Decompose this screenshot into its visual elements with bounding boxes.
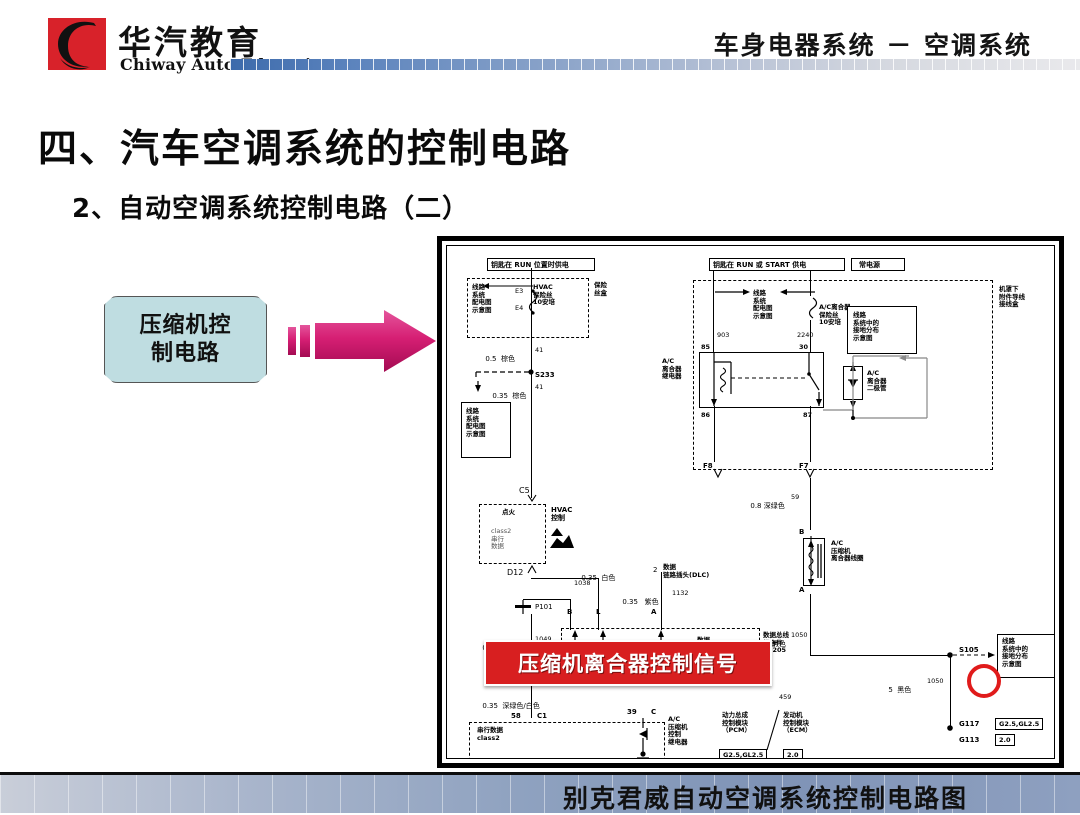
wire-num-w10: 1050 <box>927 678 944 686</box>
power-source-right-label: 钥匙在 RUN 或 START 供电 <box>713 261 806 269</box>
wire-left-main <box>531 268 532 498</box>
wire-num-w3: 1038 <box>574 580 591 588</box>
wire-1050-v <box>810 594 811 656</box>
page-header: 华汽教育 Chiway Auto Education 车身电器系统 － 空调系统 <box>0 0 1080 92</box>
ground-dist-label-2: 线路 系统中的 接地分布 示意图 <box>1002 638 1028 669</box>
pin-39-highlight-circle <box>967 664 1001 698</box>
wire-code-903: 903 <box>717 332 729 340</box>
pin-58: 58 <box>511 712 521 720</box>
power-battery-label: 常电源 <box>859 261 880 269</box>
clutch-coil-label: A/C 压缩机 离合器线圈 <box>831 540 864 563</box>
dist-diagram-label-2: 线路 系统 配电图 示意图 <box>466 408 486 439</box>
wire-label-w7: 0.8 深绿色 <box>737 494 785 519</box>
compressor-control-callout: 压缩机控 制电路 <box>104 296 267 383</box>
connector-d12-symbol <box>527 564 539 576</box>
page-title: 四、汽车空调系统的控制电路 <box>38 118 571 174</box>
compressor-clutch-signal-banner: 压缩机离合器控制信号 <box>484 640 772 686</box>
f8-f7-connector-symbols <box>711 468 821 482</box>
ac-relay-driver-symbol <box>623 718 663 759</box>
fusebox-left-symbols <box>465 280 590 340</box>
ac-clutch-fuse-symbol <box>805 296 821 324</box>
hvac-ignition-label: 点火 <box>502 509 515 517</box>
fusebox-label: 保险 丝盒 <box>594 282 607 297</box>
splice-terminal-b: B <box>567 608 572 616</box>
hvac-class2-label: class2 串行 数据 <box>491 528 511 551</box>
dlc-label: 数据 链路插头(DLC) <box>663 564 709 579</box>
wire-num-w8: 1050 <box>791 632 808 640</box>
callout-line-1: 压缩机控 <box>139 312 231 340</box>
splice-terminal-a: A <box>651 608 656 616</box>
connector-p101: P101 <box>535 603 553 611</box>
clutch-coil-terminal-a: A <box>799 586 804 594</box>
page-footer: 别克君威自动空调系统控制电路图 <box>0 772 1080 813</box>
wire-num-w6: 459 <box>779 694 791 702</box>
right-arrow-icon <box>288 310 436 372</box>
ground-dist-label-1: 线路 系统中的 接地分布 示意图 <box>853 312 879 343</box>
diode-feedback-wiring <box>799 354 999 458</box>
s105-dashed-arrow <box>951 650 999 662</box>
ground-g113: G113 <box>959 736 979 744</box>
splice-terminal-l: L <box>596 608 600 616</box>
wire-ground-v <box>950 655 951 729</box>
wire-dlc-v <box>661 572 662 630</box>
banner-text: 压缩机离合器控制信号 <box>518 648 738 678</box>
wire-903-v <box>713 270 714 352</box>
ground-g117: G117 <box>959 720 979 728</box>
pin-39: 39 <box>627 708 637 716</box>
pcm-tag-1: G2.5,GL2.5 <box>719 749 767 759</box>
hvac-mountain-icon <box>549 524 575 550</box>
ground-dot-g117 <box>945 724 957 736</box>
connector-d12: D12 <box>507 568 523 577</box>
wire-label-w10: 5 黑色 <box>875 678 911 703</box>
wire-2240-bot-v <box>810 320 811 352</box>
ac-relay-label: A/C 离合器 继电器 <box>662 358 682 381</box>
callout-line-2: 制电路 <box>151 340 220 368</box>
wire-label-w6: 0.35 深绿色/白色 <box>469 694 540 719</box>
ac-clutch-fuse-label: A/C离合器 保险丝 10安培 <box>819 304 851 327</box>
serial-class2-label: 串行数据 class2 <box>477 727 503 742</box>
callout-text: 压缩机控 制电路 <box>104 296 267 383</box>
ecm-tag: 2.0 <box>783 749 803 759</box>
wire-2240-top-v <box>810 270 811 296</box>
wire-ground-h <box>810 655 951 656</box>
pin-c: C <box>651 708 656 716</box>
wire-num-w4: 1132 <box>672 590 689 598</box>
wire-f8-v <box>714 406 715 462</box>
wire-59-v <box>810 478 811 530</box>
wire-num-w7: 59 <box>791 494 799 502</box>
hood-junction-label: 机罩下 附件导线 接线盒 <box>999 286 1025 309</box>
power-source-left-label: 钥匙在 RUN 位置时供电 <box>491 261 569 269</box>
dlc-pin-2: 2 <box>653 566 657 574</box>
logo-brush-c-icon <box>50 14 112 74</box>
relay-terminal-86: 86 <box>701 412 710 420</box>
arrow-down-s233 <box>473 380 485 394</box>
pin-c1: C1 <box>537 712 547 720</box>
wire-num-w2: 41 <box>535 384 543 392</box>
wire-f7-v <box>810 406 811 462</box>
pcm-label: 动力总成 控制模块 （PCM） <box>722 712 751 735</box>
g113-tag: 2.0 <box>995 734 1015 746</box>
splice-s233: S233 <box>535 371 555 379</box>
hvac-control-label: HVAC 控制 <box>551 506 572 523</box>
pcm-ecm-divider <box>765 708 785 754</box>
wire-green-white-v <box>531 686 532 718</box>
wire-num-w1: 41 <box>535 347 543 355</box>
ecm-label: 发动机 控制模块 （ECM） <box>783 712 812 735</box>
g117-tag: G2.5,GL2.5 <box>995 718 1043 730</box>
header-title: 车身电器系统 － 空调系统 <box>714 26 1032 62</box>
page-subtitle: 2、自动空调系统控制电路（二） <box>72 188 469 225</box>
wire-p101-h <box>523 599 571 600</box>
clutch-coil-symbol <box>801 534 829 592</box>
ac-comp-relay-label: A/C 压缩机 控制 继电器 <box>668 716 688 747</box>
